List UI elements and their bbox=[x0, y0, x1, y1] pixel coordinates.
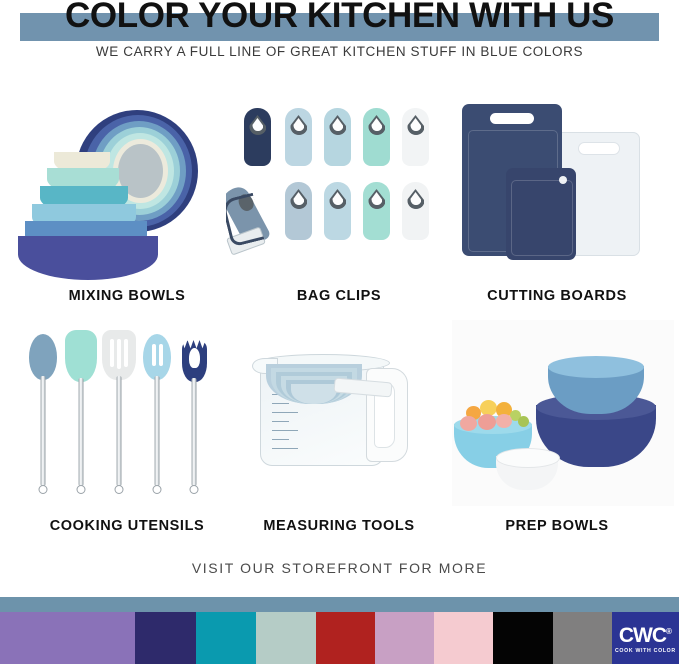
product-label-cooking-utensils: COOKING UTENSILS bbox=[14, 518, 240, 534]
utensil-turner-white bbox=[102, 330, 136, 494]
bag-clips-illustration bbox=[226, 90, 452, 280]
prep-bowl-blue-lid bbox=[548, 356, 644, 378]
fruit-grape-2 bbox=[518, 416, 529, 427]
bag-clip-navy bbox=[244, 108, 271, 166]
swatch-red bbox=[316, 612, 375, 664]
cutting-board-navy-large-handle-slot bbox=[490, 113, 534, 124]
utensil-spatula-mint bbox=[64, 330, 98, 494]
logo-mark-text: CWC bbox=[619, 624, 666, 647]
bag-clip-steel bbox=[285, 182, 312, 240]
swatch-purple bbox=[0, 612, 135, 664]
measure-tick bbox=[272, 403, 289, 404]
measure-tick bbox=[272, 448, 298, 449]
cutting-board-white-handle-slot bbox=[578, 142, 620, 155]
bag-clip-mint-1 bbox=[363, 108, 390, 166]
page-title: COLOR YOUR KITCHEN WITH US bbox=[0, 0, 679, 36]
swatch-orchid bbox=[375, 612, 434, 664]
cooking-utensils-illustration bbox=[14, 320, 240, 510]
banner-header: COLOR YOUR KITCHEN WITH US WE CARRY A FU… bbox=[0, 0, 679, 72]
bag-clip-open-arm bbox=[226, 193, 264, 248]
logo-registered-mark: ® bbox=[666, 627, 672, 636]
footer-accent-band bbox=[0, 597, 679, 612]
slotted-spoon-slot-1 bbox=[152, 344, 156, 366]
product-grid: MIXING BOWLS BAG CLI bbox=[0, 82, 679, 550]
cutting-boards-illustration bbox=[444, 90, 670, 280]
product-card-cooking-utensils[interactable]: COOKING UTENSILS bbox=[14, 320, 240, 534]
cutting-board-navy-small-inset bbox=[511, 180, 573, 256]
bag-clip-white-2 bbox=[402, 182, 429, 240]
color-swatch-strip: CWC® COOK WITH COLOR bbox=[0, 612, 679, 664]
mixing-bowls-illustration bbox=[14, 90, 240, 280]
fruit-fig-1 bbox=[460, 416, 477, 431]
slotted-spoon-head bbox=[143, 334, 171, 380]
product-label-bag-clips: BAG CLIPS bbox=[226, 288, 452, 304]
storefront-cta[interactable]: VISIT OUR STOREFRONT FOR MORE bbox=[0, 560, 679, 576]
swatch-teal bbox=[196, 612, 256, 664]
bag-clip-white-1 bbox=[402, 108, 429, 166]
product-label-cutting-boards: CUTTING BOARDS bbox=[444, 288, 670, 304]
prep-bowl-white-lid bbox=[496, 448, 560, 468]
product-label-measuring-tools: MEASURING TOOLS bbox=[226, 518, 452, 534]
spoon-head bbox=[29, 334, 57, 380]
logo-wordmark: CWC® bbox=[619, 622, 672, 646]
product-card-measuring-tools[interactable]: MEASURING TOOLS bbox=[226, 320, 452, 534]
bowl-navy bbox=[18, 236, 158, 280]
product-card-mixing-bowls[interactable]: MIXING BOWLS bbox=[14, 90, 240, 304]
turner-slot-1 bbox=[110, 339, 114, 367]
product-card-prep-bowls[interactable]: PREP BOWLS bbox=[444, 320, 670, 534]
swatch-blush-pink bbox=[434, 612, 493, 664]
pasta-server-ring bbox=[189, 348, 200, 368]
bag-clip-mint-2 bbox=[363, 182, 390, 240]
bag-clip-lightblue-1 bbox=[285, 108, 312, 166]
measure-tick bbox=[272, 439, 289, 440]
prep-bowls-illustration bbox=[444, 320, 670, 510]
promo-banner: COLOR YOUR KITCHEN WITH US WE CARRY A FU… bbox=[0, 0, 679, 664]
product-card-bag-clips[interactable]: BAG CLIPS bbox=[226, 90, 452, 304]
measure-tick bbox=[272, 430, 298, 431]
utensil-slotted-spoon-lightblue bbox=[140, 334, 174, 494]
product-card-cutting-boards[interactable]: CUTTING BOARDS bbox=[444, 90, 670, 304]
brand-logo[interactable]: CWC® COOK WITH COLOR bbox=[612, 612, 679, 664]
product-label-prep-bowls: PREP BOWLS bbox=[444, 518, 670, 534]
product-label-mixing-bowls: MIXING BOWLS bbox=[14, 288, 240, 304]
turner-slot-2 bbox=[117, 339, 121, 369]
spatula-head bbox=[65, 330, 97, 382]
swatch-sage bbox=[256, 612, 315, 664]
fruit-fig-2 bbox=[478, 414, 496, 430]
measuring-tools-illustration bbox=[226, 320, 452, 510]
measure-tick bbox=[272, 421, 289, 422]
bag-clip-lightblue-2 bbox=[324, 108, 351, 166]
utensil-spoon-blue bbox=[26, 334, 60, 494]
swatch-black bbox=[493, 612, 552, 664]
slotted-spoon-slot-2 bbox=[159, 344, 163, 366]
page-subtitle: WE CARRY A FULL LINE OF GREAT KITCHEN ST… bbox=[0, 44, 679, 59]
utensil-pasta-server-navy bbox=[177, 340, 211, 494]
measure-tick bbox=[272, 412, 298, 413]
logo-tagline: COOK WITH COLOR bbox=[615, 648, 676, 654]
fruit-fig-3 bbox=[496, 414, 512, 428]
turner-slot-3 bbox=[124, 339, 128, 367]
swatch-gray bbox=[553, 612, 612, 664]
bag-clip-lightblue-3 bbox=[324, 182, 351, 240]
swatch-indigo bbox=[135, 612, 196, 664]
